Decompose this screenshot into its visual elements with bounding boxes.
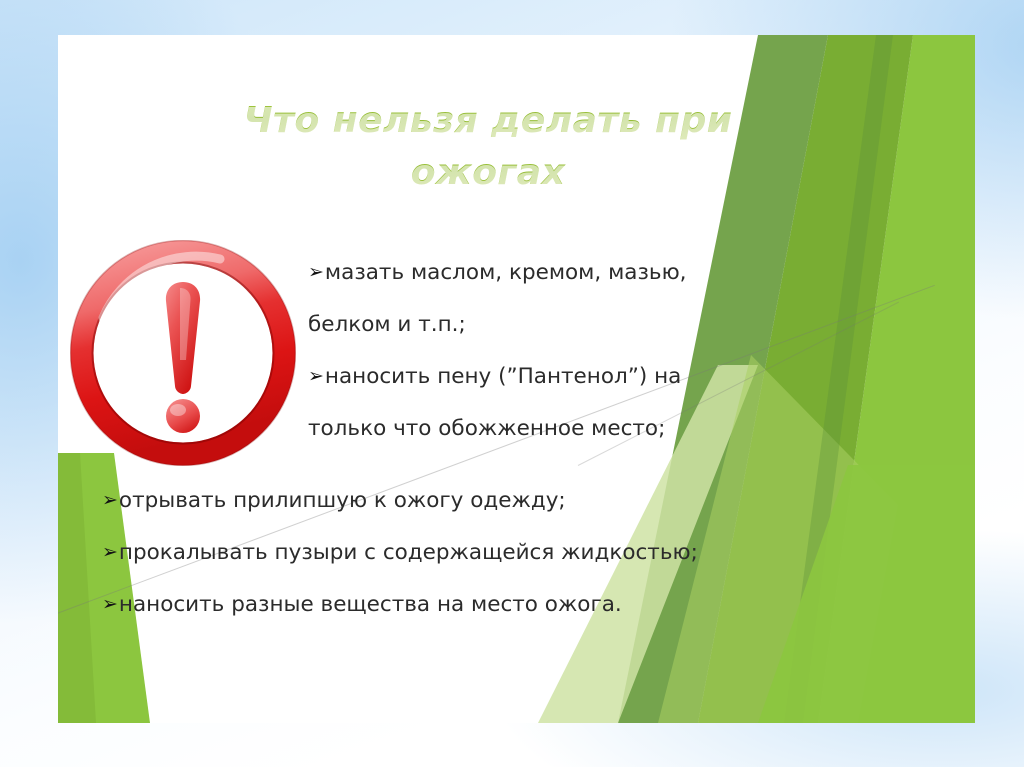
bullet-text: отрывать прилипшую к ожогу одежду; bbox=[119, 488, 566, 513]
bullet-text: наносить пену (”Пантенол”) на только что… bbox=[308, 364, 681, 441]
presentation-viewer: Что нельзя делать при ожогах bbox=[0, 0, 1024, 767]
bullet-text: наносить разные вещества на место ожога. bbox=[119, 592, 622, 617]
bullet-item: ➢отрывать прилипшую к ожогу одежду; bbox=[102, 475, 802, 527]
bullet-marker-icon: ➢ bbox=[102, 526, 118, 578]
exclamation-warning-icon bbox=[70, 240, 296, 466]
bullet-text: прокалывать пузыри с содержащейся жидкос… bbox=[119, 540, 698, 565]
bullet-marker-icon: ➢ bbox=[308, 246, 324, 298]
warning-exclamation-dot bbox=[166, 399, 200, 433]
bullet-marker-icon: ➢ bbox=[102, 474, 118, 526]
bullet-list-indented: ➢мазать маслом, кремом, мазью, белком и … bbox=[308, 247, 738, 455]
bullet-item: ➢наносить пену (”Пантенол”) на только чт… bbox=[308, 351, 738, 455]
bullet-item: ➢прокалывать пузыри с содержащейся жидко… bbox=[102, 527, 802, 579]
bullet-text: мазать маслом, кремом, мазью, белком и т… bbox=[308, 260, 687, 337]
green-shape-bright-right bbox=[818, 35, 975, 723]
bullet-marker-icon: ➢ bbox=[308, 350, 324, 402]
bullet-item: ➢наносить разные вещества на место ожога… bbox=[102, 579, 802, 631]
bullet-list-full-width: ➢отрывать прилипшую к ожогу одежду; ➢про… bbox=[102, 475, 802, 631]
slide-title: Что нельзя делать при ожогах bbox=[138, 95, 838, 199]
slide-title-line-1: Что нельзя делать при bbox=[138, 95, 838, 147]
slide-title-line-2: ожогах bbox=[138, 147, 838, 199]
slide-canvas: Что нельзя делать при ожогах bbox=[58, 35, 975, 723]
green-shape-left-wedge-shade bbox=[58, 453, 96, 723]
warning-exclamation-dot-highlight bbox=[170, 404, 186, 416]
bullet-item: ➢мазать маслом, кремом, мазью, белком и … bbox=[308, 247, 738, 351]
bullet-marker-icon: ➢ bbox=[102, 578, 118, 630]
